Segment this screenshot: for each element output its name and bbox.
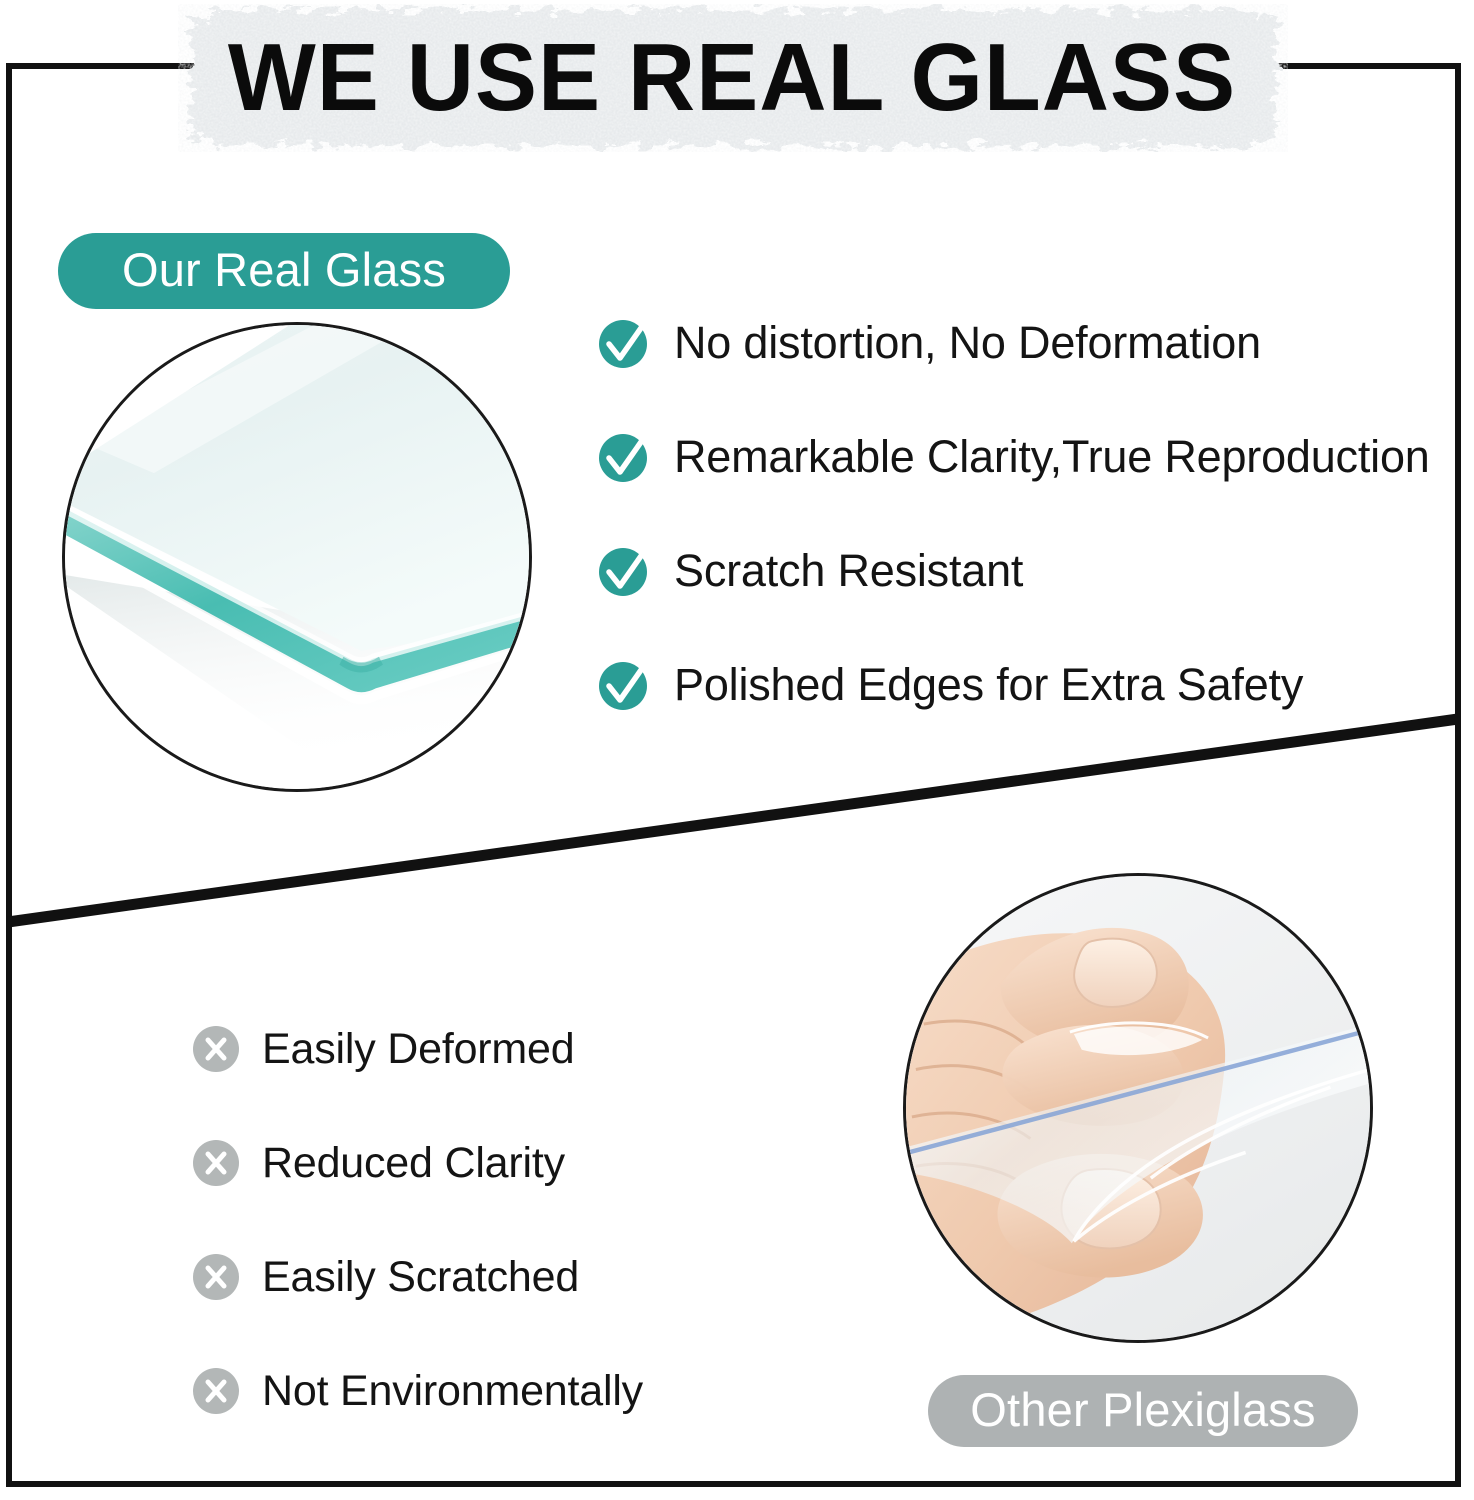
list-item: Polished Edges for Extra Safety [596,628,1456,742]
list-item-label: Easily Scratched [262,1251,579,1303]
list-item: Easily Deformed [192,992,832,1106]
list-item: No distortion, No Deformation [596,286,1456,400]
list-item: Scratch Resistant [596,514,1456,628]
hand-bending-plexiglass-photo [903,873,1373,1343]
page-title: WE USE REAL GLASS [185,26,1279,130]
list-item-label: Easily Deformed [262,1023,574,1075]
badge-our-real-glass: Our Real Glass [58,233,510,309]
list-item-label: Remarkable Clarity,True Reproduction [674,431,1430,483]
list-item-label: Scratch Resistant [674,545,1023,597]
x-circle-icon [192,1139,240,1187]
infographic-canvas: WE USE REAL GLASS Our Real Glass [0,0,1474,1500]
list-item: Easily Scratched [192,1220,832,1334]
badge-other-plexiglass: Other Plexiglass [928,1375,1358,1447]
list-item: Reduced Clarity [192,1106,832,1220]
x-circle-icon [192,1367,240,1415]
check-circle-icon [596,315,652,371]
check-circle-icon [596,657,652,713]
list-item-label: No distortion, No Deformation [674,317,1261,369]
check-circle-icon [596,543,652,599]
pros-list: No distortion, No Deformation Remarkable… [596,286,1456,742]
list-item-label: Not Environmentally [262,1365,643,1417]
x-circle-icon [192,1253,240,1301]
list-item-label: Polished Edges for Extra Safety [674,659,1303,711]
cons-list: Easily Deformed Reduced Clarity Easily S… [192,992,832,1448]
x-circle-icon [192,1025,240,1073]
check-circle-icon [596,429,652,485]
glass-corner-photo [62,322,532,792]
list-item-label: Reduced Clarity [262,1137,565,1189]
list-item: Remarkable Clarity,True Reproduction [596,400,1456,514]
title-banner: WE USE REAL GLASS [168,4,1296,152]
list-item: Not Environmentally [192,1334,832,1448]
